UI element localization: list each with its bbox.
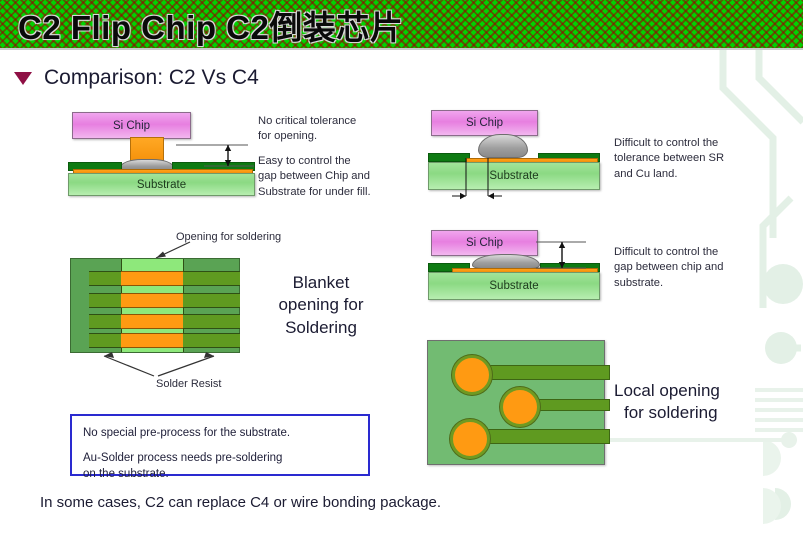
footer-statement: In some cases, C2 can replace C4 or wire… bbox=[40, 494, 441, 511]
blanket-trace bbox=[183, 271, 240, 286]
c2-substrate-label: Substrate bbox=[137, 179, 186, 191]
c2-note-line1: No critical tolerance bbox=[258, 115, 356, 127]
local-opening-label: Local opening for soldering bbox=[614, 380, 774, 425]
local-trace bbox=[480, 365, 610, 380]
c2-note-line2: for opening. bbox=[258, 130, 317, 142]
c2-note-line5: Substrate for under fill. bbox=[258, 186, 371, 198]
blanket-trace bbox=[89, 314, 121, 329]
local-pad bbox=[500, 387, 540, 427]
section-heading-label: Comparison: C2 Vs C4 bbox=[44, 66, 259, 90]
c2-si-chip-label: Si Chip bbox=[113, 120, 150, 132]
blanket-trace bbox=[89, 333, 121, 348]
c4-top-si-chip-label: Si Chip bbox=[466, 117, 503, 129]
c4-bottom-substrate-label: Substrate bbox=[489, 280, 538, 292]
local-pad bbox=[450, 419, 490, 459]
blanket-trace bbox=[183, 293, 240, 308]
c2-substrate: Substrate bbox=[68, 173, 255, 196]
c4-note-top: Difficult to control the tolerance betwe… bbox=[614, 136, 754, 182]
process-note-line2: Au-Solder process needs pre-soldering bbox=[83, 452, 282, 464]
blanket-pad bbox=[121, 271, 183, 286]
c4-note-bottom-line3: substrate. bbox=[614, 277, 663, 289]
c4-note-top-line2: tolerance between SR bbox=[614, 152, 724, 164]
c4-bottom-solder-bump bbox=[472, 254, 540, 269]
c4-note-top-line3: and Cu land. bbox=[614, 168, 677, 180]
slide-canvas: C2 Flip Chip C2倒装芯片 Comparison: C2 Vs C4… bbox=[0, 0, 803, 552]
blanket-pad bbox=[121, 314, 183, 329]
local-label-line1: Local opening bbox=[614, 381, 720, 400]
local-label-line2: for soldering bbox=[624, 402, 718, 424]
blanket-pad bbox=[121, 333, 183, 348]
slide-title: C2 Flip Chip C2倒装芯片 bbox=[18, 1, 403, 49]
c4-top-tolerance-dimension-arrows bbox=[452, 156, 522, 204]
c4-note-bottom: Difficult to control the gap between chi… bbox=[614, 245, 754, 291]
c2-si-chip: Si Chip bbox=[72, 112, 191, 139]
blanket-opening-label: Blanket opening for Soldering bbox=[256, 272, 386, 339]
title-banner: C2 Flip Chip C2倒装芯片 bbox=[0, 0, 803, 50]
local-pad bbox=[452, 355, 492, 395]
c4-cross-section-diagram-bottom: Si Chip Substrate bbox=[428, 230, 598, 298]
blanket-pad bbox=[121, 293, 183, 308]
blanket-sr-left-margin bbox=[71, 259, 89, 352]
local-trace bbox=[480, 429, 610, 444]
blanket-trace bbox=[183, 314, 240, 329]
blanket-label-line1: Blanket bbox=[293, 273, 350, 292]
c2-cross-section-diagram: Si Chip Substrate bbox=[68, 112, 253, 194]
c2-note-line4: gap between Chip and bbox=[258, 170, 370, 182]
section-heading: Comparison: C2 Vs C4 bbox=[14, 66, 259, 90]
c4-top-solder-bump bbox=[478, 134, 528, 158]
c4-note-bottom-line1: Difficult to control the bbox=[614, 246, 718, 258]
c4-cross-section-diagram-top: Si Chip Substrate bbox=[428, 110, 598, 200]
c4-bottom-gap-dimension-arrow bbox=[534, 232, 604, 280]
c4-bottom-si-chip: Si Chip bbox=[431, 230, 538, 256]
circuit-watermark bbox=[663, 48, 803, 552]
process-note-line1: No special pre-process for the substrate… bbox=[83, 425, 357, 442]
c2-note: No critical tolerance for opening. Easy … bbox=[258, 114, 378, 200]
c2-gap-dimension-arrow bbox=[176, 132, 256, 172]
solder-resist-callout: Solder Resist bbox=[156, 378, 221, 390]
c4-note-top-line1: Difficult to control the bbox=[614, 137, 718, 149]
c4-bottom-si-chip-label: Si Chip bbox=[466, 237, 503, 249]
local-trace bbox=[528, 399, 610, 411]
process-note-box: No special pre-process for the substrate… bbox=[70, 414, 370, 476]
solder-resist-callout-arrows bbox=[96, 352, 231, 380]
blanket-opening-topview bbox=[70, 258, 240, 353]
blanket-trace bbox=[89, 271, 121, 286]
blanket-label-line3: Soldering bbox=[285, 318, 357, 337]
c4-top-si-chip: Si Chip bbox=[431, 110, 538, 136]
triangle-bullet-icon bbox=[14, 72, 32, 85]
process-note-line3: on the substrate. bbox=[83, 468, 169, 480]
c2-note-line3: Easy to control the bbox=[258, 155, 351, 167]
blanket-trace bbox=[89, 293, 121, 308]
blanket-trace bbox=[183, 333, 240, 348]
c4-note-bottom-line2: gap between chip and bbox=[614, 261, 723, 273]
blanket-label-line2: opening for bbox=[278, 295, 363, 314]
local-opening-topview bbox=[427, 340, 605, 465]
